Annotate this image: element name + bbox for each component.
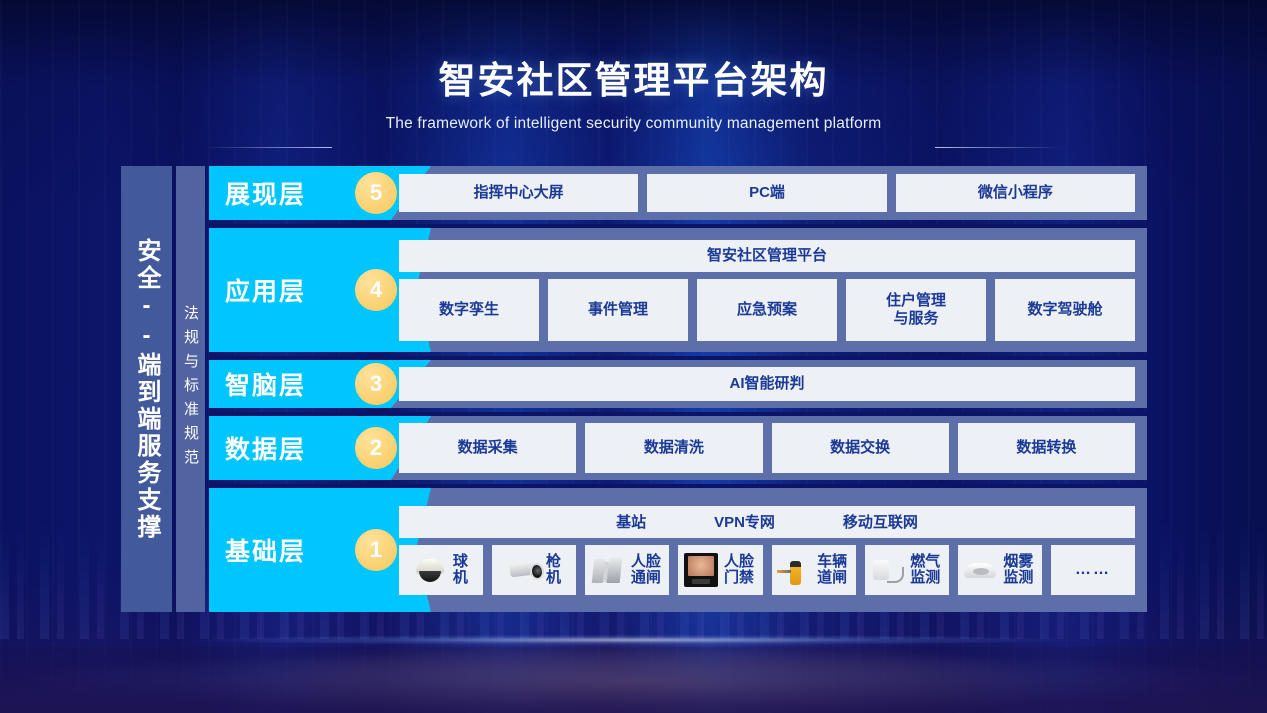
architecture-diagram: 安全--端到端服务支撑 法规与标准规范 展现层5指挥中心大屏PC端微信小程序应用… xyxy=(121,166,1147,612)
card[interactable]: 数据采集 xyxy=(399,423,576,473)
device-label: 枪机 xyxy=(546,554,563,586)
layer-content-5: 指挥中心大屏PC端微信小程序 xyxy=(399,166,1147,220)
device-card[interactable]: 燃气监测 xyxy=(865,545,949,595)
face-access-icon xyxy=(684,553,718,587)
platform-card[interactable]: 智安社区管理平台 xyxy=(399,240,1135,272)
title-rule-left xyxy=(205,147,332,148)
bullet-camera-icon xyxy=(506,553,540,587)
layer-badge-4: 4 xyxy=(355,269,397,311)
device-card[interactable]: 车辆道闸 xyxy=(772,545,856,595)
card[interactable]: PC端 xyxy=(647,174,886,212)
layer-badge-2: 2 xyxy=(355,427,397,469)
device-card[interactable]: 枪机 xyxy=(492,545,576,595)
network-item-3[interactable]: 移动互联网 xyxy=(843,511,918,532)
page-title: 智安社区管理平台架构 xyxy=(0,56,1267,106)
card[interactable]: 应急预案 xyxy=(697,279,837,341)
device-label: 车辆道闸 xyxy=(817,554,850,586)
layer-4: 应用层4智安社区管理平台数字孪生事件管理应急预案住户管理与服务数字驾驶舱 xyxy=(209,224,1147,352)
layer-5: 展现层5指挥中心大屏PC端微信小程序 xyxy=(209,166,1147,220)
layer-content-4: 智安社区管理平台数字孪生事件管理应急预案住户管理与服务数字驾驶舱 xyxy=(399,228,1147,352)
card-row: AI智能研判 xyxy=(399,367,1135,401)
background-horizon-glow xyxy=(0,633,1267,647)
network-row: 基站VPN专网移动互联网 xyxy=(399,506,1135,538)
layer-name-5: 展现层 xyxy=(225,175,306,211)
page-subtitle: The framework of intelligent security co… xyxy=(0,115,1267,133)
card-row: 指挥中心大屏PC端微信小程序 xyxy=(399,174,1135,212)
card[interactable]: AI智能研判 xyxy=(399,367,1135,401)
layer-3: 智脑层3AI智能研判 xyxy=(209,356,1147,408)
device-label: 人脸通闸 xyxy=(631,554,664,586)
card[interactable]: 数据交换 xyxy=(772,423,949,473)
background-foreground-beam xyxy=(0,647,1267,713)
layer-2: 数据层2数据采集数据清洗数据交换数据转换 xyxy=(209,412,1147,480)
card[interactable]: 数字孪生 xyxy=(399,279,539,341)
card-row: 数据采集数据清洗数据交换数据转换 xyxy=(399,423,1135,473)
device-card-more[interactable]: …… xyxy=(1051,545,1135,595)
card[interactable]: 数据转换 xyxy=(958,423,1135,473)
card-row: 数字孪生事件管理应急预案住户管理与服务数字驾驶舱 xyxy=(399,279,1135,341)
device-card[interactable]: 人脸门禁 xyxy=(678,545,762,595)
card[interactable]: 住户管理与服务 xyxy=(846,279,986,341)
layer-name-1: 基础层 xyxy=(225,532,306,568)
layer-badge-3: 3 xyxy=(355,363,397,405)
page-header: 智安社区管理平台架构 The framework of intelligent … xyxy=(0,56,1267,133)
gas-detector-icon xyxy=(870,553,904,587)
device-card[interactable]: 烟雾监测 xyxy=(958,545,1042,595)
title-rule-right xyxy=(935,147,1062,148)
layer-stack: 展现层5指挥中心大屏PC端微信小程序应用层4智安社区管理平台数字孪生事件管理应急… xyxy=(209,166,1147,612)
device-card[interactable]: 球机 xyxy=(399,545,483,595)
layer-1: 基础层1基站VPN专网移动互联网球机枪机人脸通闸人脸门禁车辆道闸燃气监测烟雾监测… xyxy=(209,484,1147,612)
network-item-1[interactable]: 基站 xyxy=(616,511,646,532)
card[interactable]: 数据清洗 xyxy=(585,423,762,473)
sidebar-standards-regulations: 法规与标准规范 xyxy=(176,166,205,612)
smoke-detector-icon xyxy=(963,553,997,587)
card[interactable]: 指挥中心大屏 xyxy=(399,174,638,212)
layer-content-2: 数据采集数据清洗数据交换数据转换 xyxy=(399,416,1147,480)
device-label: 球机 xyxy=(453,554,470,586)
device-label: 燃气监测 xyxy=(910,554,943,586)
device-label: 烟雾监测 xyxy=(1003,554,1036,586)
device-label: 人脸门禁 xyxy=(724,554,757,586)
dome-camera-icon xyxy=(413,553,447,587)
sidebar-security-support: 安全--端到端服务支撑 xyxy=(121,166,172,612)
network-item-2[interactable]: VPN专网 xyxy=(714,511,775,532)
card[interactable]: 微信小程序 xyxy=(896,174,1135,212)
card[interactable]: 数字驾驶舱 xyxy=(995,279,1135,341)
vehicle-barrier-icon xyxy=(777,553,811,587)
device-row: 球机枪机人脸通闸人脸门禁车辆道闸燃气监测烟雾监测…… xyxy=(399,545,1135,595)
layer-name-4: 应用层 xyxy=(225,272,306,308)
layer-content-1: 基站VPN专网移动互联网球机枪机人脸通闸人脸门禁车辆道闸燃气监测烟雾监测…… xyxy=(399,488,1147,612)
card[interactable]: 事件管理 xyxy=(548,279,688,341)
layer-badge-5: 5 xyxy=(355,172,397,214)
device-card[interactable]: 人脸通闸 xyxy=(585,545,669,595)
layer-name-3: 智脑层 xyxy=(225,366,306,402)
layer-name-2: 数据层 xyxy=(225,430,306,466)
layer-badge-1: 1 xyxy=(355,529,397,571)
face-gate-icon xyxy=(591,553,625,587)
layer-content-3: AI智能研判 xyxy=(399,360,1147,408)
